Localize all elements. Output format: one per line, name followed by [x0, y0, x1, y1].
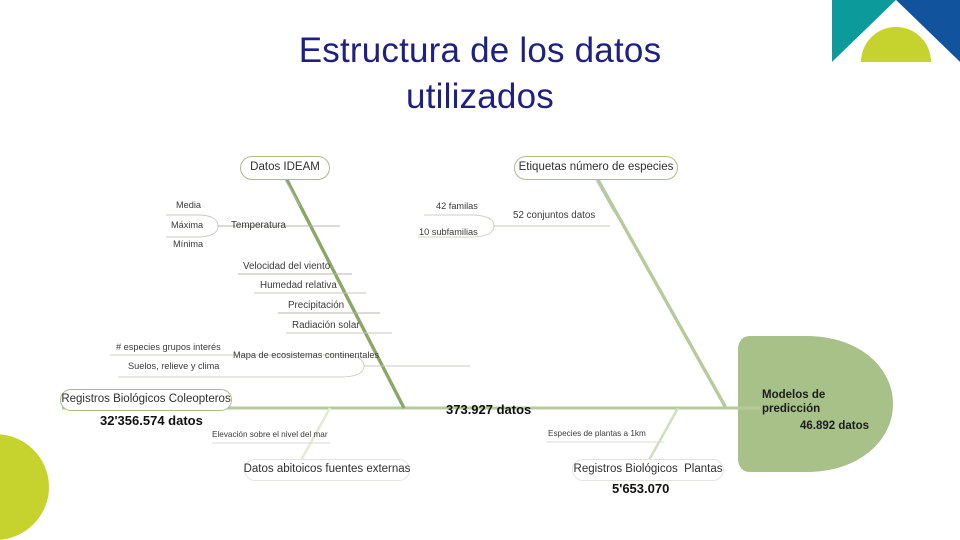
label-suelos-relieve-clima: Suelos, relieve y clima	[128, 362, 219, 371]
count-spine: 373.927 datos	[446, 403, 531, 416]
label-humedad-relativa: Humedad relativa	[260, 281, 337, 291]
label-mapa-ecosistemas: Mapa de ecosistemas continentales	[233, 351, 379, 360]
label-media: Media	[176, 201, 201, 210]
node-datos-abitoicos-label: Datos abitoicos fuentes externas	[244, 464, 411, 476]
count-registros-plantas: 5'653.070	[612, 482, 669, 495]
node-etiquetas-especies[interactable]: Etiquetas número de especies	[514, 156, 678, 180]
fish-head-label-line2: predicción	[762, 402, 892, 416]
node-datos-ideam-label: Datos IDEAM	[250, 162, 320, 174]
label-maxima: Máxima	[171, 221, 203, 230]
bone-etiquetas-especies-stub	[596, 180, 614, 212]
label-velocidad-viento: Velocidad del viento	[243, 262, 330, 272]
label-radiacion-solar: Radiación solar	[292, 321, 360, 331]
node-registros-plantas[interactable]: Registros Biológicos Plantas	[572, 459, 724, 481]
fish-head-count: 46.892 datos	[800, 421, 869, 433]
label-52-conjuntos-datos: 52 conjuntos datos	[513, 211, 595, 221]
label-42-familas: 42 familas	[436, 202, 478, 211]
label-especies-plantas-1km: Especies de plantas a 1km	[548, 430, 646, 438]
label-10-subfamilias: 10 subfamilias	[419, 228, 478, 237]
node-datos-ideam[interactable]: Datos IDEAM	[240, 156, 330, 180]
node-registros-plantas-label: Registros Biológicos Plantas	[574, 464, 723, 476]
label-elevacion-nivel-mar: Elevación sobre el nivel del mar	[212, 431, 328, 439]
label-minima: Mínima	[173, 240, 203, 249]
node-etiquetas-especies-label: Etiquetas número de especies	[519, 162, 674, 174]
bone-datos-ideam-stub	[284, 178, 300, 206]
fish-head-label-line1: Modelos de	[762, 388, 892, 402]
fish-head-label: Modelos de predicción	[762, 388, 892, 416]
label-temperatura: Temperatura	[231, 221, 286, 231]
label-especies-grupos-interes: # especies grupos interés	[116, 343, 221, 352]
node-registros-coleopteros[interactable]: Registros Biológicos Coleopteros	[60, 389, 232, 411]
fishbone-diagram	[0, 0, 960, 540]
bone-etiquetas-especies	[598, 180, 726, 408]
count-registros-coleopteros: 32'356.574 datos	[100, 414, 203, 427]
bone-registros-plantas	[648, 408, 678, 462]
node-registros-coleopteros-label: Registros Biológicos Coleopteros	[61, 394, 230, 406]
node-datos-abitoicos[interactable]: Datos abitoicos fuentes externas	[244, 459, 410, 481]
label-precipitacion: Precipitación	[288, 301, 344, 311]
